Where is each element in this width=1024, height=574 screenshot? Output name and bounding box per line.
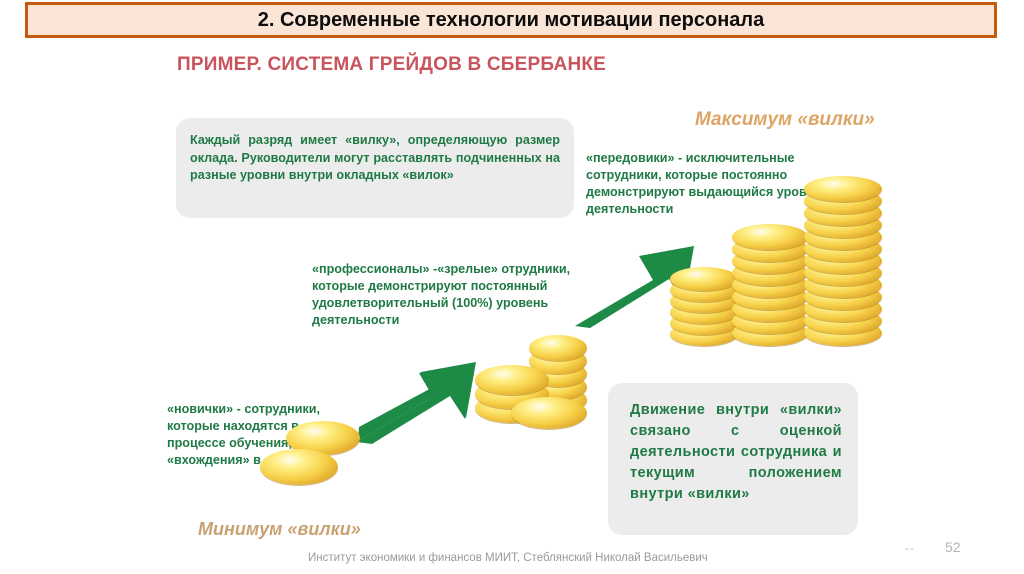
coin-stack-large-icon — [670, 160, 885, 350]
callout-movement-in-range: Движение внутри «вилки» связано с оценко… — [608, 383, 858, 535]
callout-top-text: Каждый разряд имеет «вилку», определяющу… — [190, 132, 560, 185]
page-title: 2. Современные технологии мотивации перс… — [258, 9, 765, 32]
coin-stack-medium-icon — [475, 335, 605, 445]
label-min-of-range: Минимум «вилки» — [198, 519, 361, 540]
grade-system-diagram: Каждый разряд имеет «вилку», определяющу… — [150, 95, 890, 545]
slide-title-bar: 2. Современные технологии мотивации перс… — [25, 2, 997, 38]
coin-stack-small-icon — [260, 415, 370, 520]
page-number: 52 — [945, 539, 961, 555]
arrow-up-right-icon — [355, 353, 480, 445]
footer-attribution: Институт экономики и финансов МИИТ, Стеб… — [308, 552, 708, 564]
callout-salary-range: Каждый разряд имеет «вилку», определяющу… — [176, 118, 574, 218]
callout-bottom-text: Движение внутри «вилки» связано с оценко… — [630, 400, 842, 505]
description-professionals: «профессионалы» -«зрелые» отрудники, кот… — [312, 261, 592, 329]
footer-dashes: -- — [905, 541, 915, 555]
slide-subtitle: ПРИМЕР. СИСТЕМА ГРЕЙДОВ В СБЕРБАНКЕ — [177, 54, 606, 76]
label-max-of-range: Максимум «вилки» — [695, 109, 875, 131]
